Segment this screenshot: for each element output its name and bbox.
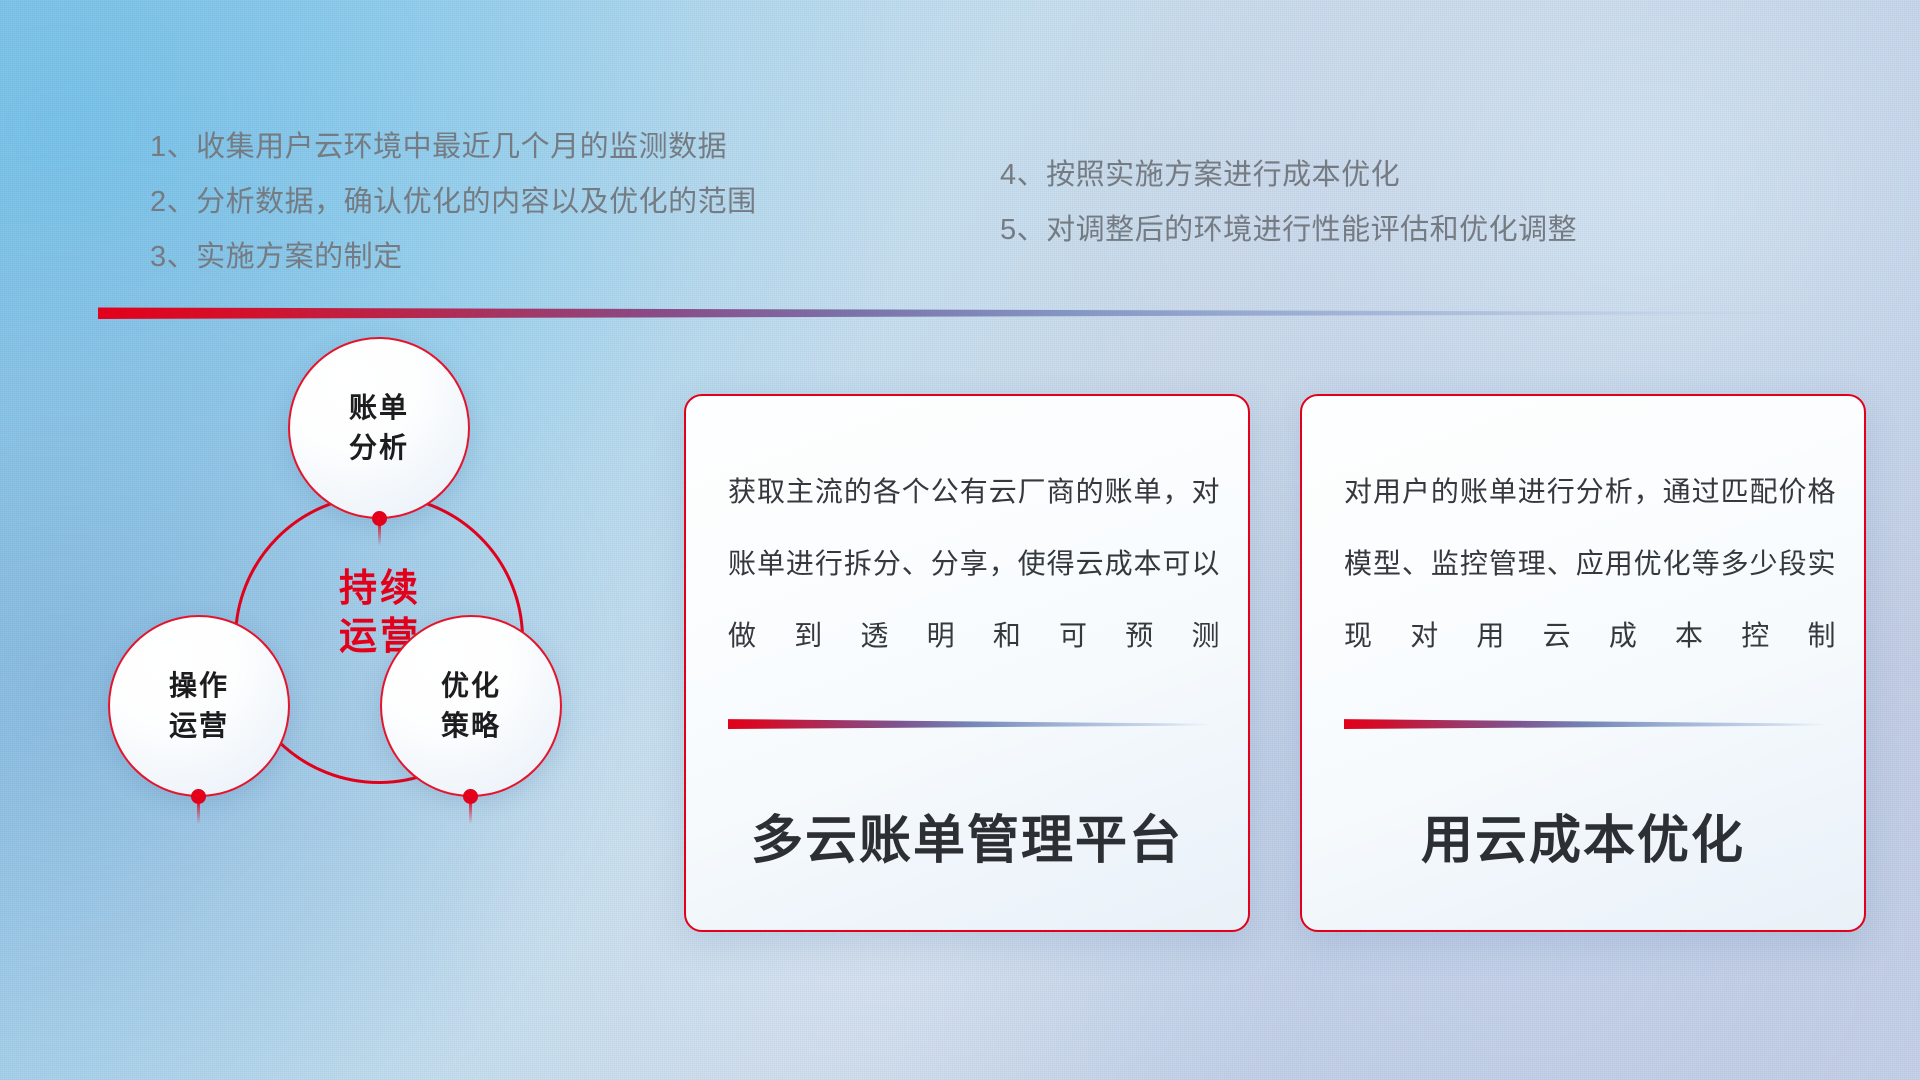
venn-diagram: 持续 运营 账单 分析 操作 运营 优化 策略 [90,345,670,945]
card-1-description: 获取主流的各个公有云厂商的账单，对账单进行拆分、分享，使得云成本可以做到透明和可… [728,456,1220,672]
section-divider [98,305,1838,319]
step-item-5: 5、对调整后的环境进行性能评估和优化调整 [1000,203,1577,258]
card-2-body: 对用户的账单进行分析，通过匹配价格模型、监控管理、应用优化等多少段实现对用云成本… [1344,456,1836,672]
slide-root: 1、收集用户云环境中最近几个月的监测数据 2、分析数据，确认优化的内容以及优化的… [0,0,1920,1080]
card-1-divider [728,718,1212,729]
venn-node-top-line2: 分析 [349,430,409,466]
venn-marker-dot-top-icon [372,511,387,526]
step-item-1: 1、收集用户云环境中最近几个月的监测数据 [150,120,757,175]
steps-right-column: 4、按照实施方案进行成本优化 5、对调整后的环境进行性能评估和优化调整 [1000,148,1577,258]
card-2-title: 用云成本优化 [1302,798,1864,873]
card-1-body: 获取主流的各个公有云厂商的账单，对账单进行拆分、分享，使得云成本可以做到透明和可… [728,456,1220,672]
venn-marker-dot-right-icon [463,789,478,804]
venn-node-optimization-strategy[interactable]: 优化 策略 [380,615,562,797]
venn-node-right-line2: 策略 [441,708,501,744]
card-1-title: 多云账单管理平台 [686,798,1248,873]
step-item-3: 3、实施方案的制定 [150,230,757,285]
card-2-description: 对用户的账单进行分析，通过匹配价格模型、监控管理、应用优化等多少段实现对用云成本… [1344,456,1836,672]
venn-node-billing-analysis[interactable]: 账单 分析 [288,337,470,519]
venn-marker-dot-left-icon [191,789,206,804]
venn-node-operations[interactable]: 操作 运营 [108,615,290,797]
steps-left-column: 1、收集用户云环境中最近几个月的监测数据 2、分析数据，确认优化的内容以及优化的… [150,120,757,285]
venn-node-top-line1: 账单 [349,390,409,426]
section-divider-line [98,305,1838,319]
step-item-2: 2、分析数据，确认优化的内容以及优化的范围 [150,175,757,230]
venn-node-right-line1: 优化 [441,668,501,704]
card-2-divider [1344,718,1828,729]
card-multicloud-billing-platform[interactable]: 获取主流的各个公有云厂商的账单，对账单进行拆分、分享，使得云成本可以做到透明和可… [684,394,1250,932]
venn-center-label-line1: 持续 [289,565,471,613]
step-item-4: 4、按照实施方案进行成本优化 [1000,148,1577,203]
venn-node-left-line2: 运营 [169,708,229,744]
venn-node-left-line1: 操作 [169,668,229,704]
card-cloud-cost-optimization[interactable]: 对用户的账单进行分析，通过匹配价格模型、监控管理、应用优化等多少段实现对用云成本… [1300,394,1866,932]
